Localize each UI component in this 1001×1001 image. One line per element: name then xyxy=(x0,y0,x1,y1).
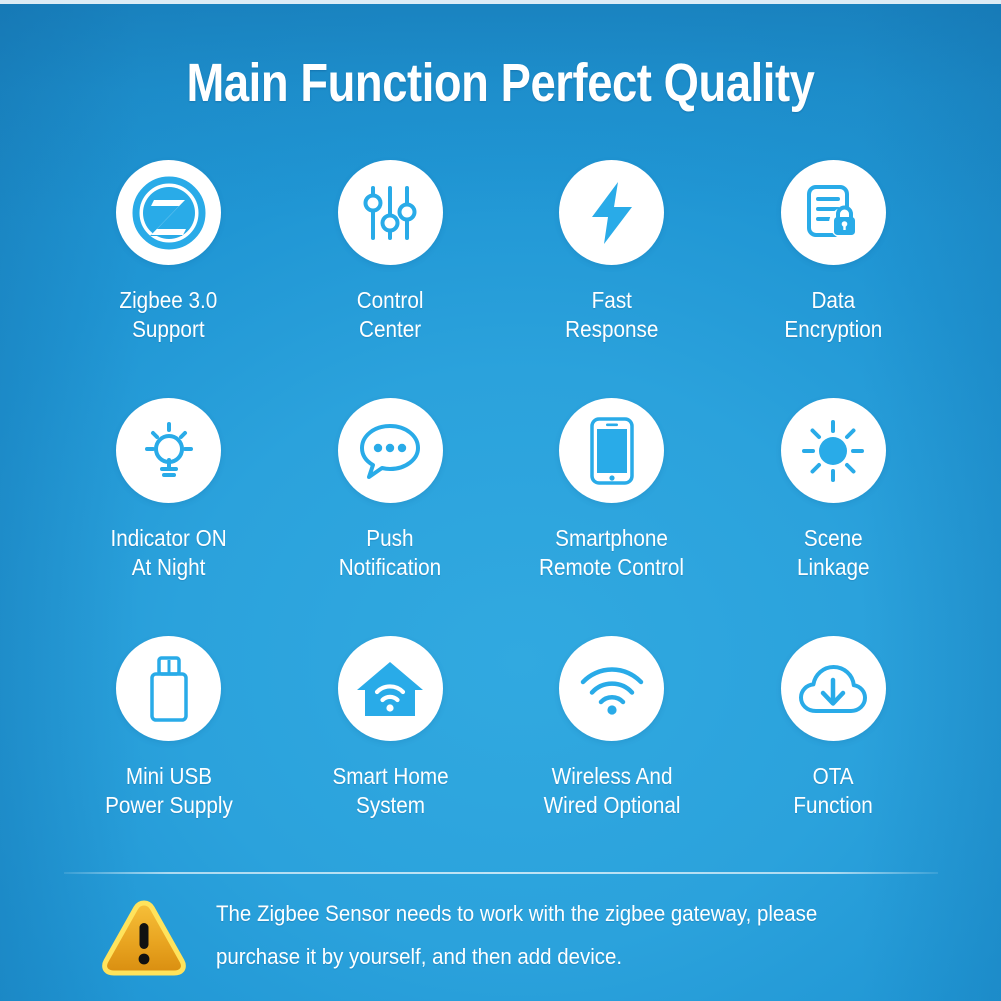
section-divider xyxy=(64,872,938,874)
zigbee-logo-icon xyxy=(130,174,208,252)
feature-label: Zigbee 3.0 Support xyxy=(120,286,218,343)
feature-item-push-notification[interactable]: Push Notification xyxy=(280,398,502,636)
warning-triangle-icon xyxy=(100,897,188,982)
feature-item-indicator-on-at-night[interactable]: Indicator ON At Night xyxy=(58,398,280,636)
icon-bubble xyxy=(559,398,664,503)
sliders-icon xyxy=(358,181,422,245)
icon-bubble xyxy=(338,636,443,741)
feature-item-zigbee-support[interactable]: Zigbee 3.0 Support xyxy=(58,160,280,398)
light-bulb-icon xyxy=(136,418,202,484)
icon-bubble xyxy=(559,160,664,265)
feature-item-fast-response[interactable]: Fast Response xyxy=(501,160,723,398)
icon-bubble xyxy=(116,160,221,265)
feature-label: Indicator ON At Night xyxy=(111,524,227,581)
feature-item-data-encryption[interactable]: Data Encryption xyxy=(723,160,945,398)
feature-item-smartphone-remote-control[interactable]: Smartphone Remote Control xyxy=(501,398,723,636)
icon-bubble xyxy=(781,636,886,741)
feature-item-wireless-and-wired-optional[interactable]: Wireless And Wired Optional xyxy=(501,636,723,874)
feature-item-scene-linkage[interactable]: Scene Linkage xyxy=(723,398,945,636)
promo-banner: Main Function Perfect Quality Zigbee 3.0… xyxy=(0,0,1001,1001)
page-title: Main Function Perfect Quality xyxy=(80,52,921,114)
wifi-signal-icon xyxy=(577,662,647,716)
feature-item-smart-home-system[interactable]: Smart Home System xyxy=(280,636,502,874)
icon-bubble xyxy=(559,636,664,741)
feature-label: Smartphone Remote Control xyxy=(539,524,684,581)
feature-label: Smart Home System xyxy=(332,762,448,819)
lightning-bolt-icon xyxy=(580,179,644,247)
icon-bubble xyxy=(338,160,443,265)
feature-item-mini-usb-power-supply[interactable]: Mini USB Power Supply xyxy=(58,636,280,874)
feature-label: Control Center xyxy=(357,286,424,343)
chat-bubble-dots-icon xyxy=(357,420,423,482)
feature-label: Scene Linkage xyxy=(797,524,870,581)
notice-text: The Zigbee Sensor needs to work with the… xyxy=(216,893,880,979)
icon-bubble xyxy=(116,398,221,503)
feature-label: Data Encryption xyxy=(784,286,882,343)
document-lock-icon xyxy=(801,181,865,245)
icon-bubble xyxy=(781,160,886,265)
usb-drive-icon xyxy=(146,655,192,723)
icon-bubble xyxy=(116,636,221,741)
smartphone-icon xyxy=(589,416,635,486)
notice-banner: The Zigbee Sensor needs to work with the… xyxy=(100,893,930,982)
feature-label: Push Notification xyxy=(339,524,441,581)
sun-icon xyxy=(799,417,867,485)
smart-home-wifi-icon xyxy=(355,658,425,720)
feature-label: Mini USB Power Supply xyxy=(105,762,233,819)
icon-bubble xyxy=(338,398,443,503)
icon-bubble xyxy=(781,398,886,503)
feature-item-control-center[interactable]: Control Center xyxy=(280,160,502,398)
feature-item-ota-function[interactable]: OTA Function xyxy=(723,636,945,874)
feature-label: OTA Function xyxy=(794,762,873,819)
feature-label: Wireless And Wired Optional xyxy=(543,762,680,819)
feature-grid: Zigbee 3.0 Support Control Center xyxy=(58,160,944,874)
feature-label: Fast Response xyxy=(565,286,658,343)
cloud-download-icon xyxy=(797,660,869,718)
